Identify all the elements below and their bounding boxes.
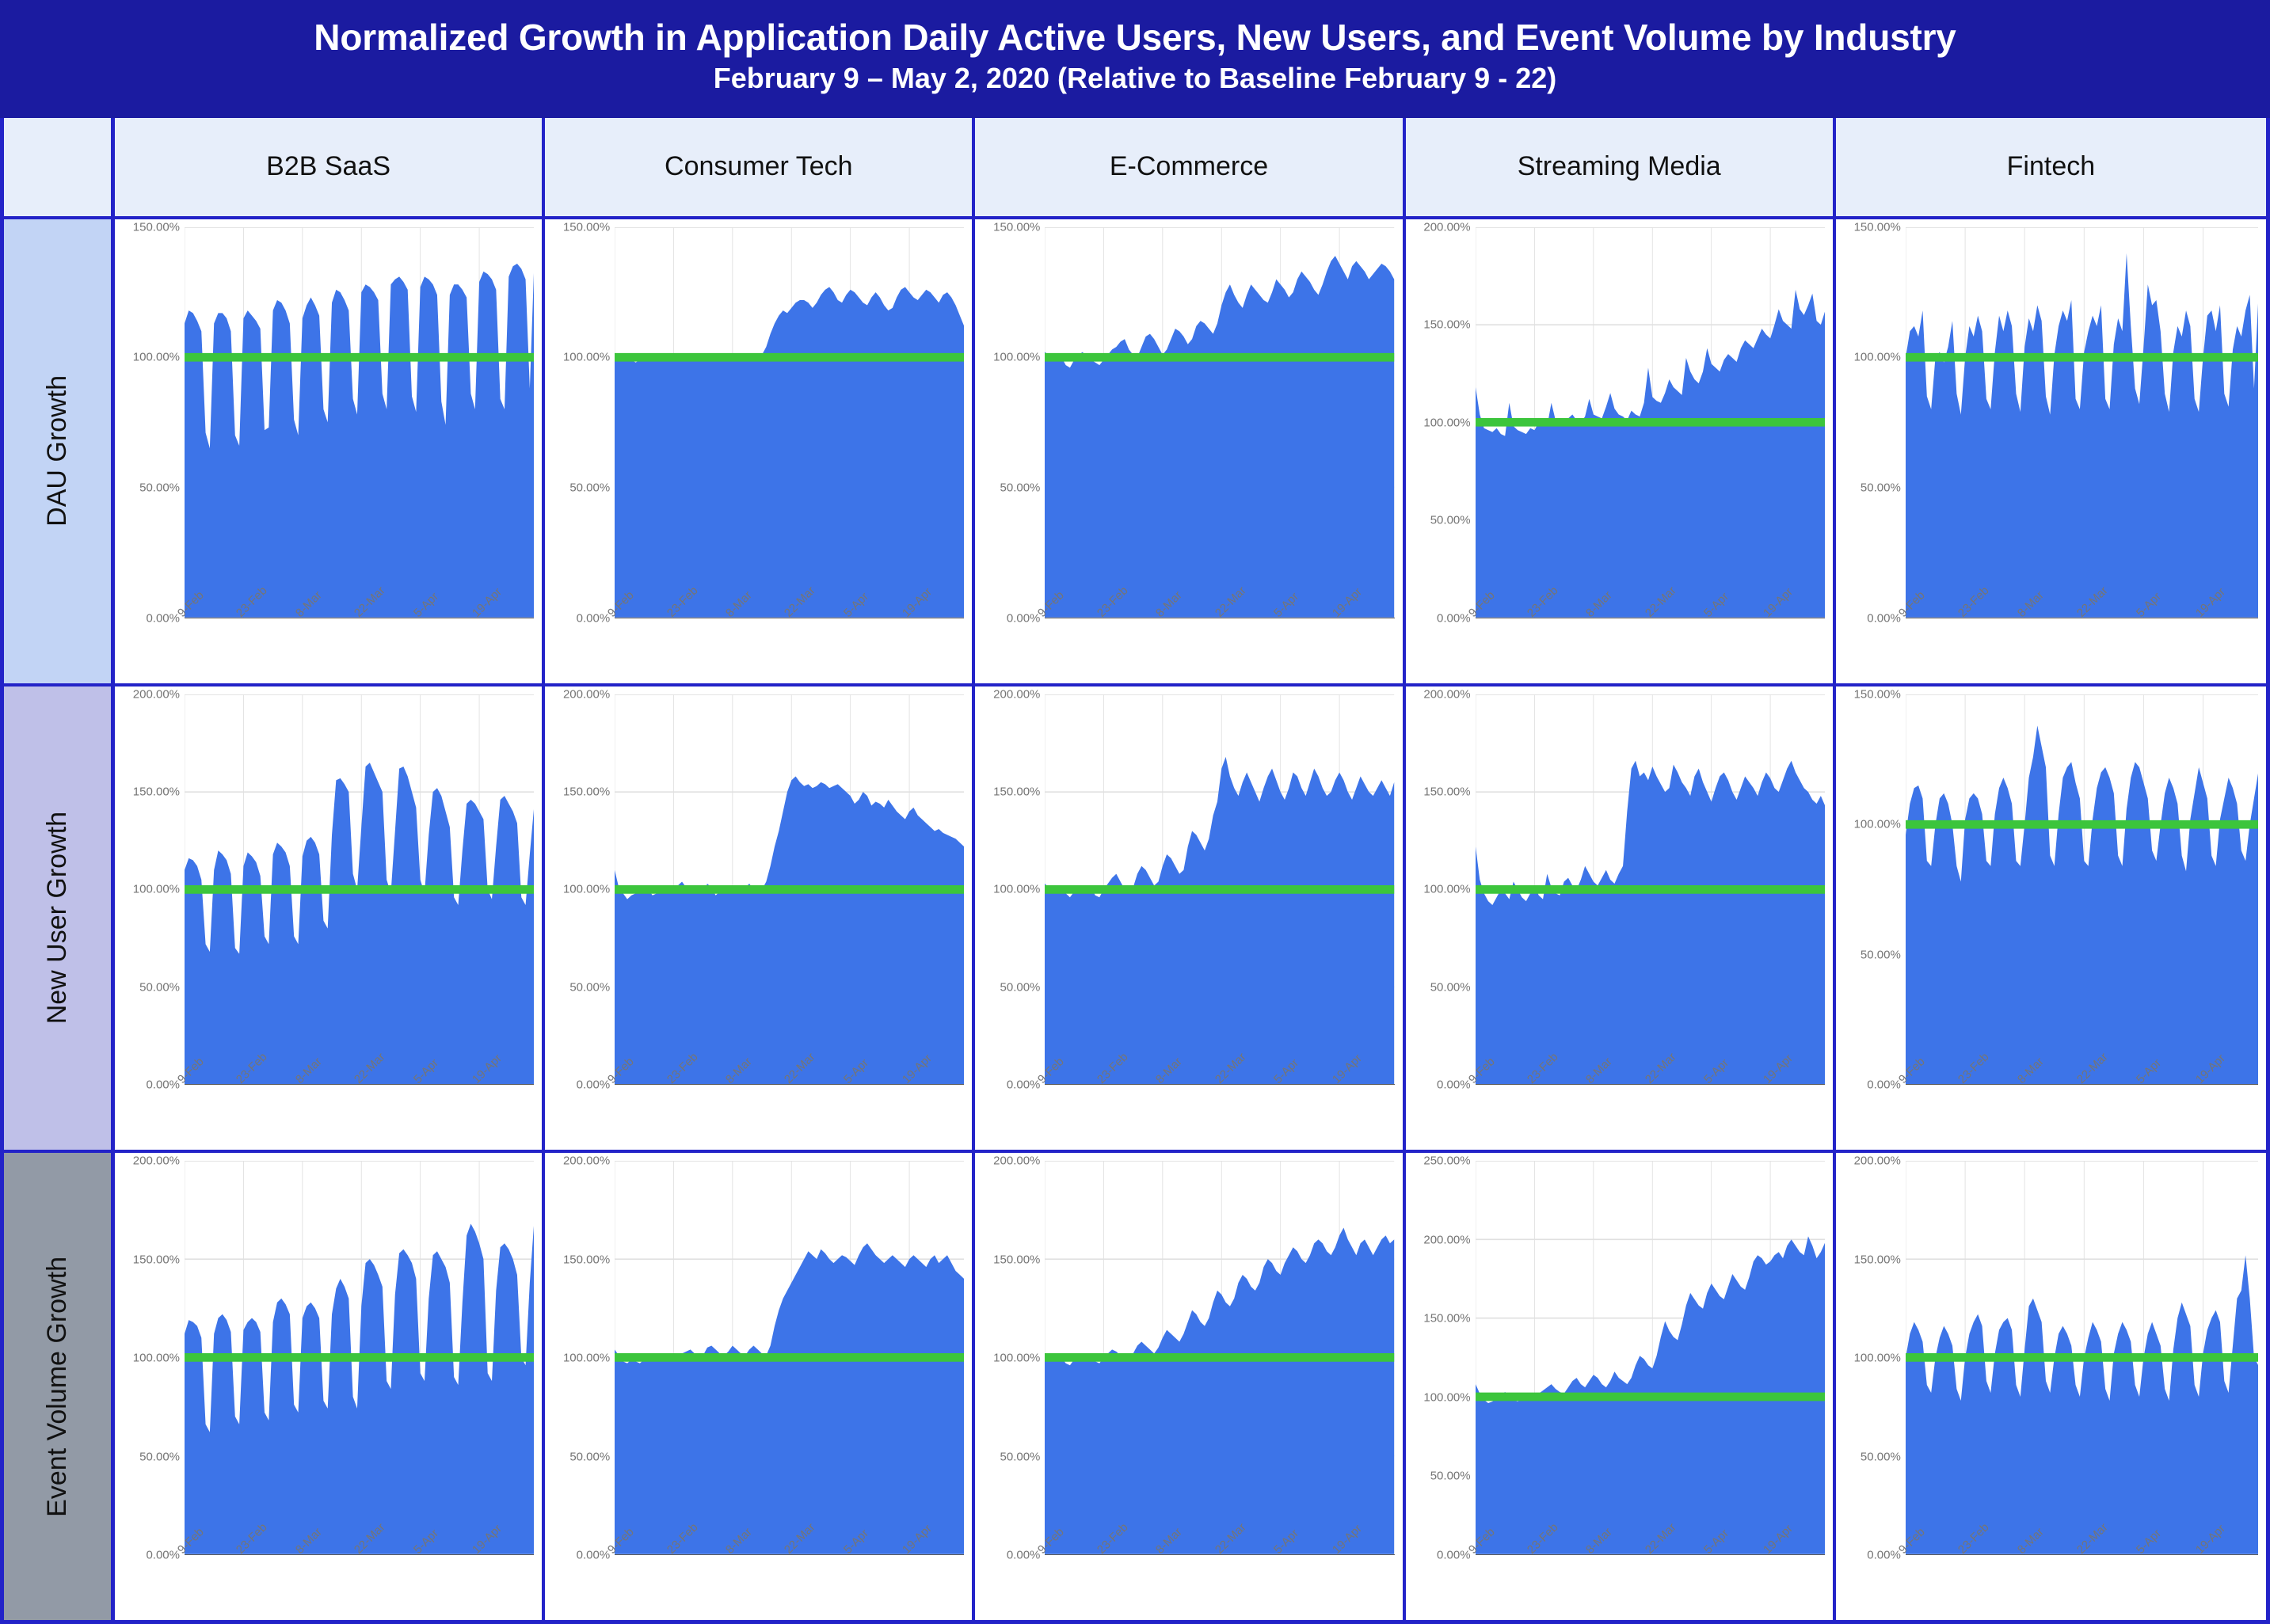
plot-area bbox=[1045, 227, 1394, 618]
x-axis-track: 9-Feb23-Feb8-Mar22-Mar5-Apr19-Apr bbox=[185, 618, 534, 679]
y-axis-tick: 100.00% bbox=[1423, 883, 1470, 896]
y-axis: 0.00%50.00%100.00%150.00%200.00% bbox=[1414, 694, 1476, 1086]
y-axis-tick: 100.00% bbox=[133, 1352, 180, 1365]
x-axis-track: 9-Feb23-Feb8-Mar22-Mar5-Apr19-Apr bbox=[185, 1555, 534, 1615]
plot-row: 0.00%50.00%100.00%150.00% bbox=[1844, 227, 2258, 618]
y-axis-tick: 50.00% bbox=[1430, 1470, 1471, 1483]
area-chart: 0.00%50.00%100.00%150.00%9-Feb23-Feb8-Ma… bbox=[123, 227, 534, 679]
x-axis: 9-Feb23-Feb8-Mar22-Mar5-Apr19-Apr bbox=[983, 1085, 1394, 1145]
y-axis-tick: 100.00% bbox=[1423, 416, 1470, 429]
y-axis-tick: 50.00% bbox=[1430, 980, 1471, 994]
plot-area bbox=[185, 694, 534, 1086]
area-series bbox=[185, 763, 534, 1084]
x-axis-spacer bbox=[123, 1555, 185, 1615]
plot-row: 0.00%50.00%100.00%150.00%200.00% bbox=[1414, 694, 1825, 1086]
y-axis-tick: 200.00% bbox=[1423, 1233, 1470, 1246]
x-axis-spacer bbox=[1844, 618, 1906, 679]
area-chart: 0.00%50.00%100.00%150.00%200.00%9-Feb23-… bbox=[983, 694, 1394, 1146]
dashboard-root: Normalized Growth in Application Daily A… bbox=[0, 0, 2270, 1624]
y-axis-tick: 200.00% bbox=[1854, 1154, 1901, 1168]
plot-area bbox=[1476, 227, 1825, 618]
area-series bbox=[1476, 290, 1825, 618]
plot-row: 0.00%50.00%100.00%150.00%200.00% bbox=[1844, 1161, 2258, 1555]
plot-row: 0.00%50.00%100.00%150.00%200.00%250.00% bbox=[1414, 1161, 1825, 1555]
chart-svg bbox=[615, 1161, 964, 1554]
x-axis-spacer bbox=[1844, 1555, 1906, 1615]
y-axis-tick: 50.00% bbox=[569, 980, 610, 994]
row-header-label: DAU Growth bbox=[42, 375, 73, 527]
area-series bbox=[1906, 725, 2258, 1084]
x-axis-track: 9-Feb23-Feb8-Mar22-Mar5-Apr19-Apr bbox=[1476, 1555, 1825, 1615]
title-banner: Normalized Growth in Application Daily A… bbox=[0, 0, 2270, 118]
x-axis-track: 9-Feb23-Feb8-Mar22-Mar5-Apr19-Apr bbox=[1045, 1085, 1394, 1145]
chart-svg bbox=[185, 227, 534, 618]
column-header-fintech: Fintech bbox=[1836, 118, 2266, 219]
chart-svg bbox=[1476, 1161, 1825, 1554]
x-axis: 9-Feb23-Feb8-Mar22-Mar5-Apr19-Apr bbox=[1844, 1555, 2258, 1615]
area-chart: 0.00%50.00%100.00%150.00%200.00%9-Feb23-… bbox=[1414, 694, 1825, 1146]
grid-corner-cell bbox=[4, 118, 115, 219]
chart-cell-dau-growth-b2b-saas[interactable]: 0.00%50.00%100.00%150.00%9-Feb23-Feb8-Ma… bbox=[115, 219, 545, 686]
y-axis-tick: 200.00% bbox=[563, 1154, 610, 1168]
chart-cell-event-volume-growth-consumer-tech[interactable]: 0.00%50.00%100.00%150.00%200.00%9-Feb23-… bbox=[545, 1153, 975, 1620]
y-axis-tick: 150.00% bbox=[1423, 318, 1470, 332]
area-series bbox=[1045, 256, 1394, 618]
x-axis: 9-Feb23-Feb8-Mar22-Mar5-Apr19-Apr bbox=[1844, 1085, 2258, 1145]
y-axis: 0.00%50.00%100.00%150.00%200.00% bbox=[553, 694, 615, 1086]
y-axis-tick: 50.00% bbox=[1000, 980, 1041, 994]
x-axis: 9-Feb23-Feb8-Mar22-Mar5-Apr19-Apr bbox=[983, 618, 1394, 679]
y-axis-tick: 100.00% bbox=[1854, 1352, 1901, 1365]
y-axis-tick: 50.00% bbox=[139, 481, 180, 495]
area-chart: 0.00%50.00%100.00%150.00%200.00%9-Feb23-… bbox=[1844, 1161, 2258, 1615]
plot-row: 0.00%50.00%100.00%150.00% bbox=[123, 227, 534, 618]
plot-row: 0.00%50.00%100.00%150.00%200.00% bbox=[123, 1161, 534, 1555]
area-chart: 0.00%50.00%100.00%150.00%200.00%9-Feb23-… bbox=[553, 1161, 964, 1615]
y-axis-tick: 50.00% bbox=[1430, 514, 1471, 527]
column-header-consumer-tech: Consumer Tech bbox=[545, 118, 975, 219]
y-axis-tick: 100.00% bbox=[1854, 818, 1901, 831]
x-axis: 9-Feb23-Feb8-Mar22-Mar5-Apr19-Apr bbox=[123, 618, 534, 679]
chart-cell-dau-growth-fintech[interactable]: 0.00%50.00%100.00%150.00%9-Feb23-Feb8-Ma… bbox=[1836, 219, 2266, 686]
x-axis-spacer bbox=[983, 1085, 1045, 1145]
y-axis-tick: 150.00% bbox=[563, 1253, 610, 1266]
chart-svg bbox=[1045, 694, 1394, 1085]
x-axis: 9-Feb23-Feb8-Mar22-Mar5-Apr19-Apr bbox=[1414, 1555, 1825, 1615]
y-axis-tick: 150.00% bbox=[993, 785, 1040, 799]
column-header-label: E-Commerce bbox=[1110, 151, 1268, 182]
chart-svg bbox=[185, 1161, 534, 1554]
y-axis-tick: 150.00% bbox=[1854, 220, 1901, 234]
row-header-new-user-growth: New User Growth bbox=[4, 686, 115, 1154]
plot-row: 0.00%50.00%100.00%150.00%200.00% bbox=[553, 1161, 964, 1555]
y-axis-tick: 200.00% bbox=[133, 1154, 180, 1168]
plot-area bbox=[615, 694, 964, 1086]
chart-svg bbox=[1906, 227, 2258, 618]
y-axis: 0.00%50.00%100.00%150.00% bbox=[1844, 227, 1906, 618]
y-axis-tick: 100.00% bbox=[563, 1352, 610, 1365]
area-chart: 0.00%50.00%100.00%150.00%200.00%9-Feb23-… bbox=[553, 694, 964, 1146]
x-axis-track: 9-Feb23-Feb8-Mar22-Mar5-Apr19-Apr bbox=[1045, 618, 1394, 679]
x-axis: 9-Feb23-Feb8-Mar22-Mar5-Apr19-Apr bbox=[553, 618, 964, 679]
chart-cell-event-volume-growth-fintech[interactable]: 0.00%50.00%100.00%150.00%200.00%9-Feb23-… bbox=[1836, 1153, 2266, 1620]
x-axis-track: 9-Feb23-Feb8-Mar22-Mar5-Apr19-Apr bbox=[185, 1085, 534, 1145]
x-axis: 9-Feb23-Feb8-Mar22-Mar5-Apr19-Apr bbox=[1414, 1085, 1825, 1145]
plot-area bbox=[615, 1161, 964, 1555]
y-axis-tick: 50.00% bbox=[1861, 481, 1901, 495]
plot-area bbox=[1045, 1161, 1394, 1555]
x-axis-track: 9-Feb23-Feb8-Mar22-Mar5-Apr19-Apr bbox=[615, 618, 964, 679]
y-axis-tick: 150.00% bbox=[133, 220, 180, 234]
x-axis-spacer bbox=[123, 1085, 185, 1145]
plot-area bbox=[1476, 1161, 1825, 1555]
area-series bbox=[615, 287, 964, 617]
chart-cell-new-user-growth-consumer-tech[interactable]: 0.00%50.00%100.00%150.00%200.00%9-Feb23-… bbox=[545, 686, 975, 1154]
column-header-streaming-media: Streaming Media bbox=[1406, 118, 1836, 219]
y-axis-tick: 100.00% bbox=[1423, 1390, 1470, 1404]
y-axis-tick: 150.00% bbox=[1854, 687, 1901, 701]
column-header-e-commerce: E-Commerce bbox=[975, 118, 1405, 219]
y-axis: 0.00%50.00%100.00%150.00%200.00% bbox=[983, 694, 1045, 1086]
area-chart: 0.00%50.00%100.00%150.00%200.00%9-Feb23-… bbox=[1414, 227, 1825, 679]
plot-row: 0.00%50.00%100.00%150.00%200.00% bbox=[983, 694, 1394, 1086]
y-axis-tick: 50.00% bbox=[569, 481, 610, 495]
x-axis-spacer bbox=[1414, 1555, 1476, 1615]
y-axis: 0.00%50.00%100.00%150.00%200.00%250.00% bbox=[1414, 1161, 1476, 1555]
chart-grid: B2B SaaSConsumer TechE-CommerceStreaming… bbox=[0, 118, 2270, 1624]
y-axis-tick: 100.00% bbox=[133, 883, 180, 896]
y-axis-tick: 200.00% bbox=[1423, 687, 1470, 701]
x-axis-track: 9-Feb23-Feb8-Mar22-Mar5-Apr19-Apr bbox=[1906, 618, 2258, 679]
chart-cell-dau-growth-streaming-media[interactable]: 0.00%50.00%100.00%150.00%200.00%9-Feb23-… bbox=[1406, 219, 1836, 686]
y-axis-tick: 50.00% bbox=[139, 1450, 180, 1463]
y-axis-tick: 50.00% bbox=[1861, 1450, 1901, 1463]
chart-svg bbox=[615, 227, 964, 618]
y-axis: 0.00%50.00%100.00%150.00%200.00% bbox=[1414, 227, 1476, 618]
column-header-b2b-saas: B2B SaaS bbox=[115, 118, 545, 219]
area-series bbox=[615, 776, 964, 1084]
plot-row: 0.00%50.00%100.00%150.00% bbox=[1844, 694, 2258, 1086]
y-axis-tick: 50.00% bbox=[139, 980, 180, 994]
plot-area bbox=[1906, 227, 2258, 618]
y-axis-tick: 150.00% bbox=[563, 785, 610, 799]
x-axis: 9-Feb23-Feb8-Mar22-Mar5-Apr19-Apr bbox=[123, 1555, 534, 1615]
chart-svg bbox=[185, 694, 534, 1085]
x-axis: 9-Feb23-Feb8-Mar22-Mar5-Apr19-Apr bbox=[1414, 618, 1825, 679]
y-axis-tick: 150.00% bbox=[563, 220, 610, 234]
chart-svg bbox=[1045, 1161, 1394, 1554]
x-axis: 9-Feb23-Feb8-Mar22-Mar5-Apr19-Apr bbox=[553, 1555, 964, 1615]
chart-svg bbox=[1476, 227, 1825, 618]
y-axis: 0.00%50.00%100.00%150.00% bbox=[123, 227, 185, 618]
plot-area bbox=[1045, 694, 1394, 1086]
chart-cell-new-user-growth-b2b-saas[interactable]: 0.00%50.00%100.00%150.00%200.00%9-Feb23-… bbox=[115, 686, 545, 1154]
area-series bbox=[615, 1244, 964, 1554]
y-axis-tick: 250.00% bbox=[1423, 1154, 1470, 1168]
y-axis-tick: 150.00% bbox=[133, 1253, 180, 1266]
y-axis-tick: 100.00% bbox=[1854, 351, 1901, 364]
x-axis-track: 9-Feb23-Feb8-Mar22-Mar5-Apr19-Apr bbox=[1476, 618, 1825, 679]
x-axis-spacer bbox=[553, 1085, 615, 1145]
area-chart: 0.00%50.00%100.00%150.00%200.00%9-Feb23-… bbox=[123, 1161, 534, 1615]
chart-cell-new-user-growth-e-commerce[interactable]: 0.00%50.00%100.00%150.00%200.00%9-Feb23-… bbox=[975, 686, 1405, 1154]
y-axis-tick: 100.00% bbox=[993, 883, 1040, 896]
y-axis-tick: 100.00% bbox=[993, 1352, 1040, 1365]
x-axis-track: 9-Feb23-Feb8-Mar22-Mar5-Apr19-Apr bbox=[1476, 1085, 1825, 1145]
x-axis-track: 9-Feb23-Feb8-Mar22-Mar5-Apr19-Apr bbox=[1045, 1555, 1394, 1615]
chart-svg bbox=[1045, 227, 1394, 618]
plot-row: 0.00%50.00%100.00%150.00% bbox=[983, 227, 1394, 618]
y-axis-tick: 150.00% bbox=[133, 785, 180, 799]
y-axis-tick: 150.00% bbox=[993, 220, 1040, 234]
y-axis-tick: 200.00% bbox=[993, 687, 1040, 701]
chart-cell-dau-growth-e-commerce[interactable]: 0.00%50.00%100.00%150.00%9-Feb23-Feb8-Ma… bbox=[975, 219, 1405, 686]
plot-row: 0.00%50.00%100.00%150.00%200.00% bbox=[553, 694, 964, 1086]
y-axis-tick: 50.00% bbox=[1861, 948, 1901, 961]
y-axis-tick: 100.00% bbox=[563, 351, 610, 364]
area-series bbox=[1906, 1256, 2258, 1554]
plot-row: 0.00%50.00%100.00%150.00%200.00% bbox=[123, 694, 534, 1086]
chart-cell-event-volume-growth-e-commerce[interactable]: 0.00%50.00%100.00%150.00%200.00%9-Feb23-… bbox=[975, 1153, 1405, 1620]
chart-svg bbox=[1476, 694, 1825, 1085]
x-axis-spacer bbox=[983, 618, 1045, 679]
chart-svg bbox=[1906, 1161, 2258, 1554]
plot-row: 0.00%50.00%100.00%150.00%200.00% bbox=[983, 1161, 1394, 1555]
y-axis: 0.00%50.00%100.00%150.00%200.00% bbox=[983, 1161, 1045, 1555]
row-header-dau-growth: DAU Growth bbox=[4, 219, 115, 686]
x-axis-spacer bbox=[553, 1555, 615, 1615]
y-axis-tick: 100.00% bbox=[133, 351, 180, 364]
page-title: Normalized Growth in Application Daily A… bbox=[0, 17, 2270, 59]
chart-cell-event-volume-growth-streaming-media[interactable]: 0.00%50.00%100.00%150.00%200.00%250.00%9… bbox=[1406, 1153, 1836, 1620]
area-chart: 0.00%50.00%100.00%150.00%200.00%250.00%9… bbox=[1414, 1161, 1825, 1615]
chart-svg bbox=[1906, 694, 2258, 1085]
plot-area bbox=[1476, 694, 1825, 1086]
plot-area bbox=[1906, 1161, 2258, 1555]
y-axis: 0.00%50.00%100.00%150.00% bbox=[983, 227, 1045, 618]
area-chart: 0.00%50.00%100.00%150.00%9-Feb23-Feb8-Ma… bbox=[1844, 694, 2258, 1146]
y-axis-tick: 100.00% bbox=[993, 351, 1040, 364]
x-axis-track: 9-Feb23-Feb8-Mar22-Mar5-Apr19-Apr bbox=[1906, 1555, 2258, 1615]
plot-area bbox=[1906, 694, 2258, 1086]
y-axis-tick: 200.00% bbox=[563, 687, 610, 701]
y-axis-tick: 150.00% bbox=[1423, 785, 1470, 799]
chart-svg bbox=[615, 694, 964, 1085]
x-axis-spacer bbox=[1414, 1085, 1476, 1145]
column-header-label: B2B SaaS bbox=[266, 151, 390, 182]
plot-row: 0.00%50.00%100.00%150.00%200.00% bbox=[1414, 227, 1825, 618]
plot-row: 0.00%50.00%100.00%150.00% bbox=[553, 227, 964, 618]
row-header-label: Event Volume Growth bbox=[42, 1257, 73, 1517]
plot-area bbox=[185, 1161, 534, 1555]
x-axis-track: 9-Feb23-Feb8-Mar22-Mar5-Apr19-Apr bbox=[1906, 1085, 2258, 1145]
y-axis-tick: 200.00% bbox=[993, 1154, 1040, 1168]
area-series bbox=[185, 264, 534, 618]
chart-cell-new-user-growth-fintech[interactable]: 0.00%50.00%100.00%150.00%9-Feb23-Feb8-Ma… bbox=[1836, 686, 2266, 1154]
plot-area bbox=[615, 227, 964, 618]
x-axis: 9-Feb23-Feb8-Mar22-Mar5-Apr19-Apr bbox=[983, 1555, 1394, 1615]
chart-cell-event-volume-growth-b2b-saas[interactable]: 0.00%50.00%100.00%150.00%200.00%9-Feb23-… bbox=[115, 1153, 545, 1620]
area-series bbox=[1045, 756, 1394, 1084]
area-chart: 0.00%50.00%100.00%150.00%9-Feb23-Feb8-Ma… bbox=[553, 227, 964, 679]
y-axis: 0.00%50.00%100.00%150.00% bbox=[1844, 694, 1906, 1086]
row-header-event-volume-growth: Event Volume Growth bbox=[4, 1153, 115, 1620]
y-axis-tick: 150.00% bbox=[1423, 1312, 1470, 1325]
y-axis: 0.00%50.00%100.00%150.00%200.00% bbox=[553, 1161, 615, 1555]
area-chart: 0.00%50.00%100.00%150.00%200.00%9-Feb23-… bbox=[123, 694, 534, 1146]
area-series bbox=[1906, 253, 2258, 618]
area-series bbox=[185, 1224, 534, 1554]
x-axis-spacer bbox=[1844, 1085, 1906, 1145]
y-axis-tick: 50.00% bbox=[1000, 481, 1041, 495]
x-axis: 9-Feb23-Feb8-Mar22-Mar5-Apr19-Apr bbox=[1844, 618, 2258, 679]
column-header-label: Fintech bbox=[2007, 151, 2096, 182]
y-axis: 0.00%50.00%100.00%150.00%200.00% bbox=[1844, 1161, 1906, 1555]
y-axis: 0.00%50.00%100.00%150.00% bbox=[553, 227, 615, 618]
area-series bbox=[1045, 1228, 1394, 1554]
chart-cell-new-user-growth-streaming-media[interactable]: 0.00%50.00%100.00%150.00%200.00%9-Feb23-… bbox=[1406, 686, 1836, 1154]
page-subtitle: February 9 – May 2, 2020 (Relative to Ba… bbox=[0, 62, 2270, 94]
column-header-label: Consumer Tech bbox=[665, 151, 853, 182]
y-axis-tick: 50.00% bbox=[569, 1450, 610, 1463]
x-axis-spacer bbox=[553, 618, 615, 679]
x-axis-spacer bbox=[983, 1555, 1045, 1615]
y-axis: 0.00%50.00%100.00%150.00%200.00% bbox=[123, 1161, 185, 1555]
y-axis: 0.00%50.00%100.00%150.00%200.00% bbox=[123, 694, 185, 1086]
y-axis-tick: 150.00% bbox=[1854, 1253, 1901, 1266]
row-header-label: New User Growth bbox=[42, 812, 73, 1024]
x-axis-track: 9-Feb23-Feb8-Mar22-Mar5-Apr19-Apr bbox=[615, 1085, 964, 1145]
x-axis-track: 9-Feb23-Feb8-Mar22-Mar5-Apr19-Apr bbox=[615, 1555, 964, 1615]
y-axis-tick: 150.00% bbox=[993, 1253, 1040, 1266]
area-chart: 0.00%50.00%100.00%150.00%9-Feb23-Feb8-Ma… bbox=[983, 227, 1394, 679]
area-chart: 0.00%50.00%100.00%150.00%9-Feb23-Feb8-Ma… bbox=[1844, 227, 2258, 679]
x-axis: 9-Feb23-Feb8-Mar22-Mar5-Apr19-Apr bbox=[553, 1085, 964, 1145]
x-axis-spacer bbox=[123, 618, 185, 679]
x-axis-spacer bbox=[1414, 618, 1476, 679]
area-chart: 0.00%50.00%100.00%150.00%200.00%9-Feb23-… bbox=[983, 1161, 1394, 1615]
y-axis-tick: 100.00% bbox=[563, 883, 610, 896]
y-axis-tick: 200.00% bbox=[1423, 220, 1470, 234]
plot-area bbox=[185, 227, 534, 618]
column-header-label: Streaming Media bbox=[1518, 151, 1721, 182]
chart-cell-dau-growth-consumer-tech[interactable]: 0.00%50.00%100.00%150.00%9-Feb23-Feb8-Ma… bbox=[545, 219, 975, 686]
y-axis-tick: 50.00% bbox=[1000, 1450, 1041, 1463]
y-axis-tick: 200.00% bbox=[133, 687, 180, 701]
area-series bbox=[1476, 760, 1825, 1084]
x-axis: 9-Feb23-Feb8-Mar22-Mar5-Apr19-Apr bbox=[123, 1085, 534, 1145]
